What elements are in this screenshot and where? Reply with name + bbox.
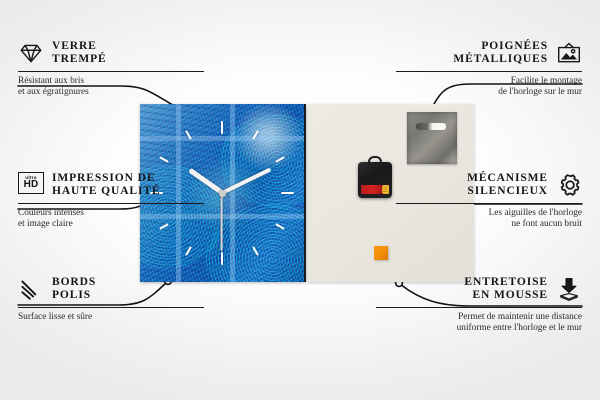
feature-description: Surface lisse et sûre [18, 312, 204, 323]
gear-icon [556, 172, 582, 198]
ultra-hd-icon-main-text: HD [24, 180, 39, 190]
ultra-hd-icon: ultra HD [18, 172, 44, 198]
feature-title: POIGNÉES MÉTALLIQUES [453, 40, 548, 66]
feature-rule [376, 307, 582, 308]
hanger-plate [407, 112, 457, 164]
feature-rule [18, 203, 204, 204]
feature-bords-polis: BORDS POLIS Surface lisse et sûre [18, 276, 204, 323]
polished-edges-icon [18, 276, 44, 302]
feature-mecanisme-silencieux: MÉCANISME SILENCIEUX Les aiguilles de l'… [396, 172, 582, 230]
mechanism-hanger-loop [368, 156, 382, 165]
feature-rule [396, 71, 582, 72]
feature-title: VERRE TREMPÉ [52, 40, 107, 66]
feature-title: ENTRETOISE EN MOUSSE [464, 276, 548, 302]
feature-rule [18, 71, 204, 72]
battery [361, 185, 389, 194]
feature-description: Les aiguilles de l'horloge ne font aucun… [396, 208, 582, 230]
feature-title: MÉCANISME SILENCIEUX [467, 172, 548, 198]
hanger-slot [416, 123, 446, 130]
feature-description: Facilite le montage de l'horloge sur le … [396, 76, 582, 98]
feature-poignees-metalliques: POIGNÉES MÉTALLIQUES Facilite le montage… [396, 40, 582, 98]
clock-mechanism [358, 162, 392, 198]
feature-description: Couleurs intenses et image claire [18, 208, 204, 230]
feature-impression-hd: ultra HD IMPRESSION DE HAUTE QUALITÉ Cou… [18, 172, 204, 230]
feature-description: Permet de maintenir une distance uniform… [376, 312, 582, 334]
feature-rule [18, 307, 204, 308]
clock-center-cap [219, 190, 226, 197]
feature-verre-trempe: VERRE TREMPÉ Résistant aux bris et aux é… [18, 40, 204, 98]
foam-spacer-icon [556, 276, 582, 302]
feature-rule [396, 203, 582, 204]
feature-entretoise-mousse: ENTRETOISE EN MOUSSE Permet de maintenir… [376, 276, 582, 334]
wall-mount-icon [556, 40, 582, 66]
feature-title: BORDS POLIS [52, 276, 96, 302]
foam-spacer [374, 246, 388, 260]
clock-second-hand [221, 193, 223, 251]
diamond-icon [18, 40, 44, 66]
feature-title: IMPRESSION DE HAUTE QUALITÉ [52, 172, 161, 198]
feature-description: Résistant aux bris et aux égratignures [18, 76, 204, 98]
